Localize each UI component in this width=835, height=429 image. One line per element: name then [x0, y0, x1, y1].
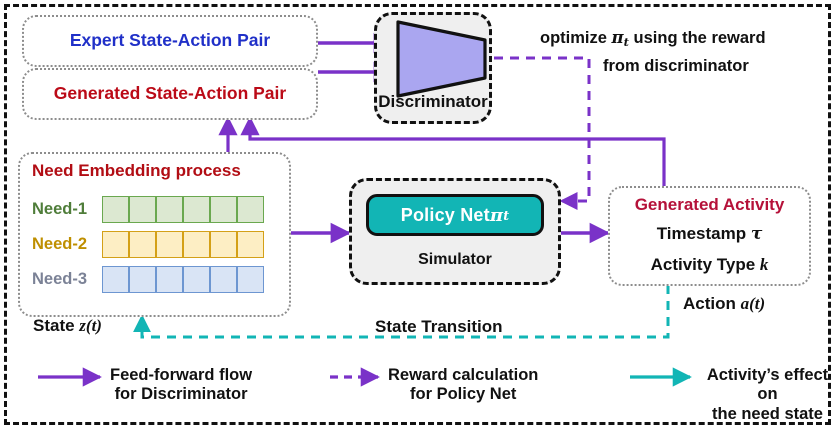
legend-reward-line2: for Policy Net [388, 385, 538, 404]
legend-activity-line1: Activity’s effect on [700, 366, 835, 405]
legend-item-feed-forward: Feed-forward flow for Discriminator [110, 366, 252, 405]
legend-reward-line1: Reward calculation [388, 366, 538, 385]
legend-item-activity-effect: Activity’s effect on the need state [700, 366, 835, 424]
legend-feed-forward-line1: Feed-forward flow [110, 366, 252, 385]
legend-arrow-layer [0, 0, 835, 429]
legend-item-reward-calculation: Reward calculation for Policy Net [388, 366, 538, 405]
legend-feed-forward-line2: for Discriminator [110, 385, 252, 404]
legend-activity-line2: the need state [700, 405, 835, 424]
diagram-canvas: Expert State-Action Pair Generated State… [0, 0, 835, 429]
